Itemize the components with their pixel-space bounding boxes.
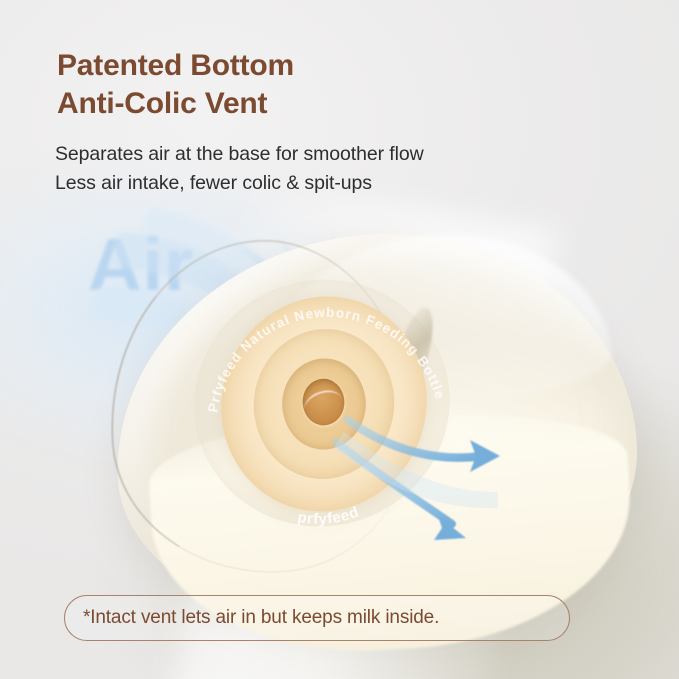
emboss-brand-textpath: prfyfeed <box>296 504 361 528</box>
bottle-illustration: Prfyfeed Natural Newborn Feeding Bottle … <box>108 206 679 626</box>
page-subtitle-line1: Separates air at the base for smoother f… <box>55 140 575 169</box>
product-feature-graphic: Air <box>0 0 679 679</box>
page-title: Patented Bottom Anti-Colic Vent <box>57 47 537 124</box>
page-title-line2: Anti-Colic Vent <box>57 85 537 123</box>
footnote-text: *Intact vent lets air in but keeps milk … <box>83 607 439 629</box>
page-subtitle-line2: Less air intake, fewer colic & spit-ups <box>55 169 575 198</box>
page-subtitle: Separates air at the base for smoother f… <box>55 140 575 198</box>
page-title-line1: Patented Bottom <box>57 49 294 82</box>
emboss-brand-label: prfyfeed <box>296 504 361 528</box>
footnote-pill: *Intact vent lets air in but keeps milk … <box>64 595 570 641</box>
embossed-product-text: Prfyfeed Natural Newborn Feeding Bottle … <box>200 276 452 534</box>
emboss-arc-label: Prfyfeed Natural Newborn Feeding Bottle … <box>195 264 450 414</box>
emboss-arc-textpath: Prfyfeed Natural Newborn Feeding Bottle … <box>195 264 450 414</box>
